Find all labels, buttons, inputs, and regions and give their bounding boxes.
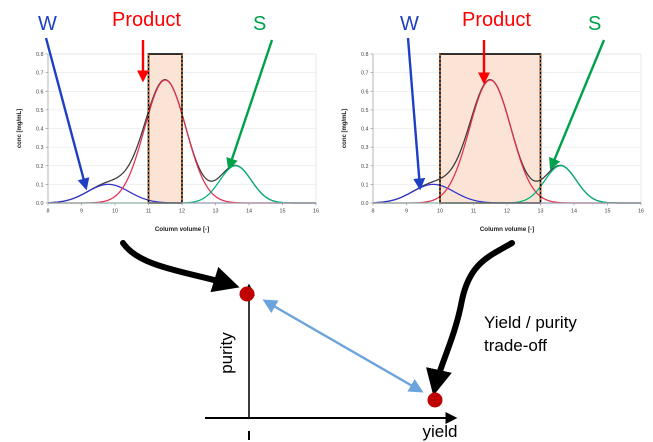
svg-text:Column volume [-]: Column volume [-] [155,226,209,233]
label-product-left: Product [112,10,181,30]
svg-text:0.6: 0.6 [36,89,44,95]
svg-text:9: 9 [80,209,83,215]
svg-text:16: 16 [313,209,319,215]
svg-text:14: 14 [246,209,252,215]
flow-arrow-narrow-to-high-purity [123,243,232,285]
tradeoff-connector-arrow [265,301,421,391]
svg-text:0.2: 0.2 [361,164,369,170]
svg-text:10: 10 [437,209,443,215]
svg-text:0.0: 0.0 [361,201,369,207]
svg-text:0.5: 0.5 [36,108,44,114]
tradeoff-caption-line1: Yield / purity [484,312,577,335]
figure-root: 0.00.10.20.30.40.50.60.70.88910111213141… [0,0,653,442]
svg-text:11: 11 [146,209,152,215]
svg-text:0.3: 0.3 [36,145,44,151]
label-weak-impurity-left: W [38,14,57,34]
chromatogram-wide-cut-svg: 0.00.10.20.30.40.50.60.70.88910111213141… [337,44,647,239]
tradeoff-caption-line2: trade-off [484,335,577,358]
svg-text:15: 15 [280,209,286,215]
svg-text:0.6: 0.6 [361,89,369,95]
svg-text:0.2: 0.2 [36,164,44,170]
chromatogram-narrow-cut: 0.00.10.20.30.40.50.60.70.88910111213141… [12,44,322,239]
svg-text:16: 16 [638,209,644,215]
tradeoff-xlabel: yield [423,422,458,441]
plot-area-right: 0.00.10.20.30.40.50.60.70.88910111213141… [342,52,644,233]
svg-text:conc [mg/mL]: conc [mg/mL] [342,109,348,148]
svg-text:12: 12 [504,209,510,215]
label-strong-impurity-left: S [253,14,266,34]
svg-text:0.8: 0.8 [361,52,369,58]
svg-text:0.5: 0.5 [361,108,369,114]
svg-text:0.1: 0.1 [361,182,369,188]
chromatogram-wide-cut: 0.00.10.20.30.40.50.60.70.88910111213141… [337,44,647,239]
svg-text:0.7: 0.7 [36,71,44,77]
label-strong-impurity-right: S [588,14,601,34]
svg-text:13: 13 [538,209,544,215]
svg-text:8: 8 [47,209,50,215]
label-product-right: Product [462,10,531,30]
svg-text:8: 8 [372,209,375,215]
svg-text:12: 12 [179,209,185,215]
svg-text:14: 14 [571,209,577,215]
plot-area-left: 0.00.10.20.30.40.50.60.70.88910111213141… [17,52,319,233]
svg-text:conc [mg/mL]: conc [mg/mL] [17,109,23,148]
label-weak-impurity-right: W [400,14,419,34]
svg-text:Column volume [-]: Column volume [-] [480,226,534,233]
svg-text:0.1: 0.1 [36,182,44,188]
svg-text:0.3: 0.3 [361,145,369,151]
svg-text:0.4: 0.4 [361,127,369,133]
tradeoff-ylabel: purity [217,332,236,374]
svg-text:0.7: 0.7 [361,71,369,77]
svg-text:9: 9 [405,209,408,215]
tradeoff-point-high-purity [240,287,255,302]
svg-text:0.8: 0.8 [36,52,44,58]
svg-text:10: 10 [112,209,118,215]
tradeoff-point-high-yield [428,393,443,408]
chromatogram-narrow-cut-svg: 0.00.10.20.30.40.50.60.70.88910111213141… [12,44,322,239]
svg-text:13: 13 [213,209,219,215]
svg-text:15: 15 [605,209,611,215]
svg-text:0.0: 0.0 [36,201,44,207]
tradeoff-caption: Yield / purity trade-off [484,312,577,358]
svg-text:11: 11 [471,209,477,215]
svg-text:0.4: 0.4 [36,127,44,133]
